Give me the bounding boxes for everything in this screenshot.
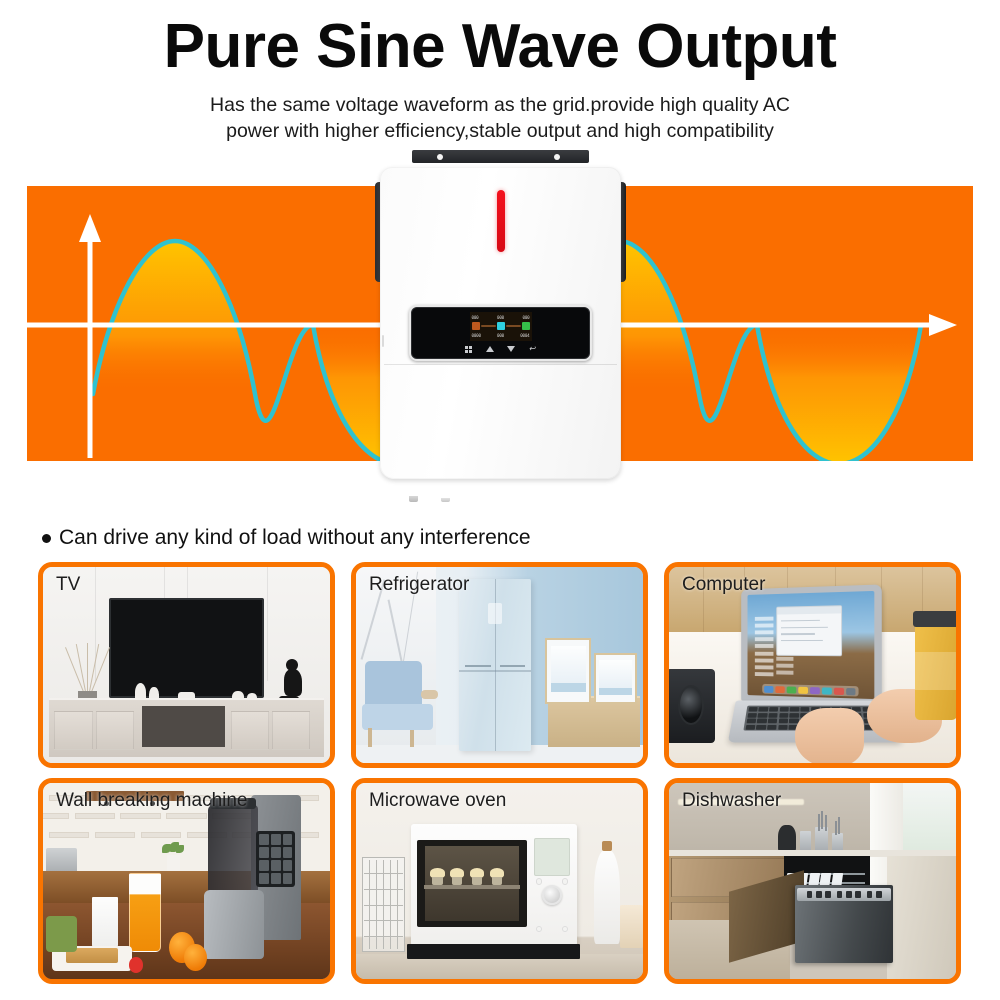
television [109,598,264,698]
microwave-base [407,944,580,959]
orange-juice-carafe [129,873,161,951]
page-subtitle: Has the same voltage waveform as the gri… [0,92,1000,144]
up-arrow-icon[interactable] [486,345,494,353]
lcd-display: 000 000 000 0000 000 0004 [470,312,532,341]
lcd-grid-icon [522,322,530,330]
lcd-flow-bar [506,325,521,327]
wave-fill-negative-2 [757,325,921,461]
white-bottle-decor [594,850,620,944]
appliance-card-label: Computer [682,574,765,596]
orange-fruit-half [184,944,207,971]
appliance-card-label: Wall breaking machine [56,790,248,812]
tv-console [49,698,325,757]
microwave-counter-photo [356,783,643,979]
dried-plant-decor [63,643,112,702]
appliance-card-wall-breaking-machine[interactable]: Wall breaking machine [38,778,335,984]
computer-desk-photo [669,567,956,763]
appliance-card-microwave-oven[interactable]: Microwave oven [351,778,648,984]
cupcake-food [490,868,504,885]
appliance-card-dishwasher[interactable]: Dishwasher [664,778,961,984]
wave-fill-positive-1 [93,241,255,394]
feature-note: Can drive any kind of load without any i… [42,526,531,550]
microwave-button [562,926,568,932]
cupcake-food [470,868,484,885]
microwave-button [562,878,568,884]
tv-living-room-photo [43,567,330,763]
appliance-card-computer[interactable]: Computer [664,562,961,768]
refrigerator-room-photo [356,567,643,763]
lcd-readout: 000 [497,333,504,338]
lcd-bottom-readouts: 0000 000 0004 [472,332,530,340]
x-axis-arrow-icon [929,314,957,336]
lcd-readout: 0004 [520,333,529,338]
framed-artwork [545,638,591,705]
storage-jar-decor [620,905,643,948]
appliance-grid: TV [38,562,962,984]
lcd-readout: 0000 [472,333,481,338]
product-feature-page: Pure Sine Wave Output Has the same volta… [0,0,1000,1000]
lcd-readout: 000 [497,315,504,320]
bullet-dot-icon [42,534,51,543]
appliance-card-tv[interactable]: TV [38,562,335,768]
screen-dock [762,684,858,696]
dslr-camera [669,669,715,743]
dishwasher-door[interactable] [795,885,893,963]
page-title: Pure Sine Wave Output [0,14,1000,79]
inverter-device: 000 000 000 0000 000 0004 [363,150,638,498]
cooling-rack [362,857,405,951]
blender-control-panel [256,831,295,887]
microwave-display [534,838,570,877]
page-subtitle-line-2: power with higher efficiency,stable outp… [0,118,1000,144]
microwave-button [536,878,542,884]
pot-stack-decor [46,848,78,873]
milk-glass [92,897,118,948]
appliance-card-label: Refrigerator [369,574,469,596]
potted-herb [161,842,187,873]
panel-button-row: ↩ [411,345,590,353]
fridge-dispenser-panel [488,603,502,624]
microwave-unit [411,824,577,946]
right-cabinet-panel [887,856,956,979]
dishwasher-control-bar [797,888,891,901]
cupcake-food [450,868,464,885]
screen-sidebar-list [755,616,774,681]
enter-icon[interactable]: ↩ [528,345,536,353]
inverter-body: 000 000 000 0000 000 0004 [380,167,621,479]
bracket-screw-icon [437,154,443,160]
figurine-decor [281,659,307,702]
body-seam [384,364,617,365]
cable-gland [409,496,418,502]
page-subtitle-line-1: Has the same voltage waveform as the gri… [0,92,1000,118]
lcd-pv-icon [472,322,480,330]
down-arrow-icon[interactable] [507,345,515,353]
appliance-card-label: TV [56,574,80,596]
microwave-dial[interactable] [542,885,562,905]
y-axis-arrow-icon [79,214,101,242]
armchair [362,661,439,747]
hand-typing-left [795,708,864,763]
lcd-top-readouts: 000 000 000 [472,313,530,321]
blender-unit [204,795,302,960]
appliance-card-refrigerator[interactable]: Refrigerator [351,562,648,768]
status-led-indicator [497,190,505,252]
microwave-button [536,926,542,932]
microwave-tray [424,885,521,888]
appliance-card-label: Dishwasher [682,790,781,812]
microwave-control-panel[interactable] [530,831,573,938]
inverter-control-panel[interactable]: 000 000 000 0000 000 0004 [409,305,592,361]
refrigerator-unit [459,579,531,751]
file-manager-window [776,605,842,656]
coffee-cup [913,606,956,720]
lcd-readout: 000 [523,315,530,320]
side-vent [382,335,384,347]
blender-kitchen-photo [43,783,330,979]
laptop-screen [748,590,875,698]
framed-artwork [594,653,637,704]
feature-note-text: Can drive any kind of load without any i… [59,526,531,550]
dishwasher-kitchen-photo [669,783,956,979]
green-bowl [46,916,78,951]
appliance-card-label: Microwave oven [369,790,506,812]
cupcake-food [430,868,444,885]
microwave-door[interactable] [417,840,527,927]
bracket-screw-icon [554,154,560,160]
cable-gland [441,498,450,502]
laptop-lid [741,584,882,705]
utensil-set [778,799,847,854]
wall-mount-bracket [412,150,589,163]
lcd-power-flow-diagram [472,322,530,330]
lcd-readout: 000 [472,315,479,320]
lcd-flow-bar [481,325,496,327]
menu-grid-icon[interactable] [465,345,473,353]
lcd-inverter-icon [497,322,505,330]
